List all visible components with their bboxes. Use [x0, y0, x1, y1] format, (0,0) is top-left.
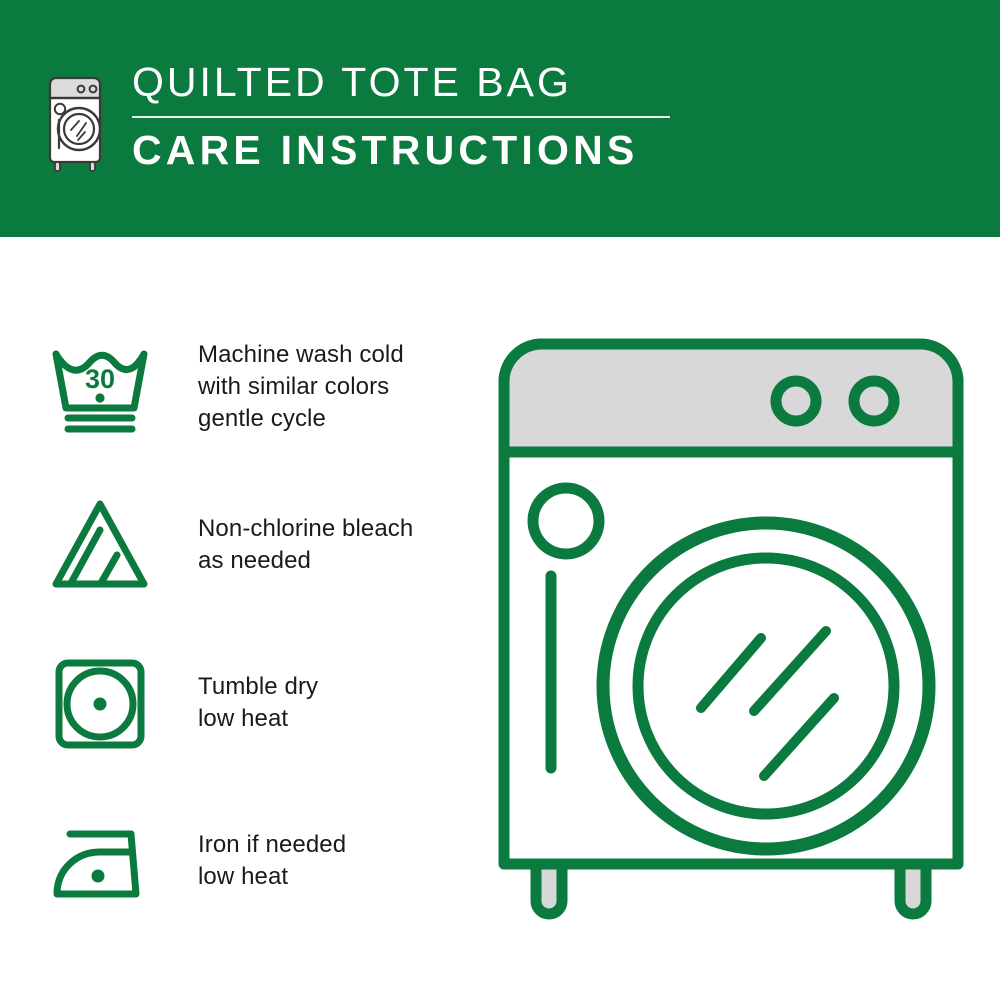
title-divider — [132, 116, 670, 118]
header-content: QUILTED TOTE BAG CARE INSTRUCTIONS — [44, 62, 670, 176]
care-text-line: Tumble dry — [198, 671, 318, 703]
page-title: QUILTED TOTE BAG — [132, 62, 670, 103]
non-chlorine-bleach-symbol — [44, 488, 156, 600]
washing-machine-icon — [44, 68, 106, 176]
care-text-line: as needed — [198, 545, 413, 577]
washing-machine-illustration — [496, 336, 966, 926]
page-subtitle: CARE INSTRUCTIONS — [132, 130, 670, 171]
care-instruction-list: 30 Machine wash cold with similar colors… — [44, 330, 474, 916]
list-item-text: Non-chlorine bleach as needed — [198, 511, 413, 577]
poster-header: QUILTED TOTE BAG CARE INSTRUCTIONS — [0, 0, 1000, 237]
care-text-line: with similar colors — [198, 371, 404, 403]
list-item: Non-chlorine bleach as needed — [44, 488, 474, 600]
list-item-text: Machine wash cold with similar colors ge… — [198, 337, 404, 435]
list-item-text: Iron if needed low heat — [198, 827, 346, 893]
care-text-line: gentle cycle — [198, 403, 404, 435]
tumble-dry-low-heat-symbol — [44, 646, 156, 758]
machine-wash-30-gentle-symbol: 30 — [44, 330, 156, 442]
iron-low-heat-symbol — [44, 804, 156, 916]
list-item: Iron if needed low heat — [44, 804, 474, 916]
list-item: Tumble dry low heat — [44, 646, 474, 758]
header-title-group: QUILTED TOTE BAG CARE INSTRUCTIONS — [132, 62, 670, 171]
list-item-text: Tumble dry low heat — [198, 669, 318, 735]
care-text-line: Machine wash cold — [198, 339, 404, 371]
care-text-line: Iron if needed — [198, 829, 346, 861]
leg-left — [536, 864, 562, 914]
care-instructions-poster: QUILTED TOTE BAG CARE INSTRUCTIONS 3 — [0, 0, 1000, 1000]
list-item: 30 Machine wash cold with similar colors… — [44, 330, 474, 442]
wash-temperature-label: 30 — [85, 364, 115, 394]
leg-right — [900, 864, 926, 914]
care-text-line: Non-chlorine bleach — [198, 513, 413, 545]
care-text-line: low heat — [198, 861, 346, 893]
care-text-line: low heat — [198, 703, 318, 735]
